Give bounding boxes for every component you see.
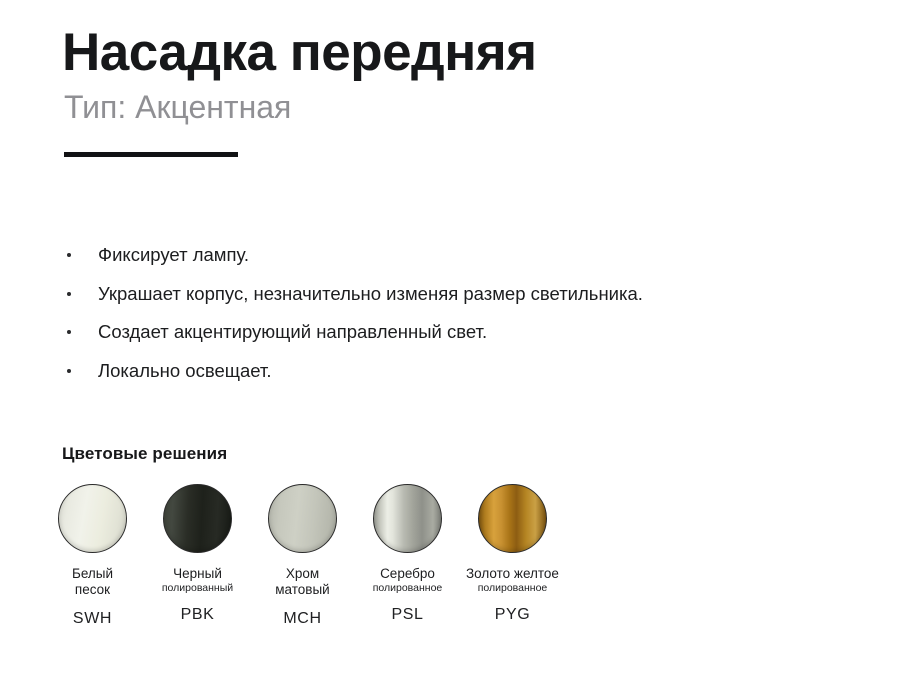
swatch-label: Черный полированный (142, 566, 254, 595)
bullet-icon (67, 369, 71, 373)
swatch-name-sub: песок (37, 582, 149, 598)
swatch-code: PBK (181, 606, 215, 624)
swatch-name-main: Золото желтое (457, 566, 569, 582)
swatch-name-main: Белый (37, 566, 149, 582)
list-item: Создает акцентирующий направленный свет. (62, 323, 852, 342)
swatch-circle-icon[interactable] (163, 484, 232, 553)
bullet-icon (67, 292, 71, 296)
swatch-code: PSL (391, 606, 423, 624)
swatch-name-main: Черный (142, 566, 254, 582)
bullet-icon (67, 330, 71, 334)
feature-list: Фиксирует лампу. Украшает корпус, незнач… (62, 246, 852, 400)
swatch-circle-icon[interactable] (373, 484, 442, 553)
list-item: Локально освещает. (62, 362, 852, 381)
header: Насадка передняя Тип: Акцентная (62, 24, 842, 157)
swatch-circle-icon[interactable] (478, 484, 547, 553)
swatch-name-sub: полированное (457, 582, 569, 595)
list-item: Фиксирует лампу. (62, 246, 852, 265)
feature-text: Создает акцентирующий направленный свет. (98, 321, 487, 342)
color-swatch-pbk[interactable]: Черный полированный PBK (163, 484, 232, 628)
swatch-name-main: Хром (247, 566, 359, 582)
feature-text: Локально освещает. (98, 360, 272, 381)
swatch-code: PYG (495, 606, 531, 624)
color-swatch-pyg[interactable]: Золото желтое полированное PYG (478, 484, 547, 628)
swatch-circle-icon[interactable] (58, 484, 127, 553)
swatch-name-main: Серебро (352, 566, 464, 582)
slide-page: Насадка передняя Тип: Акцентная Фиксируе… (0, 0, 900, 700)
page-title: Насадка передняя (62, 24, 842, 81)
bullet-icon (67, 253, 71, 257)
swatch-label: Белый песок (37, 566, 149, 599)
page-subtitle: Тип: Акцентная (64, 90, 842, 125)
color-swatch-swh[interactable]: Белый песок SWH (58, 484, 127, 628)
colors-section-heading: Цветовые решения (62, 444, 227, 464)
color-swatch-mch[interactable]: Хром матовый MCH (268, 484, 337, 628)
swatch-name-sub: матовый (247, 582, 359, 598)
swatch-circle-icon[interactable] (268, 484, 337, 553)
swatch-name-sub: полированный (142, 582, 254, 595)
swatch-name-sub: полированное (352, 582, 464, 595)
title-divider (64, 152, 238, 157)
feature-text: Украшает корпус, незначительно изменяя р… (98, 283, 643, 304)
swatch-label: Хром матовый (247, 566, 359, 599)
feature-text: Фиксирует лампу. (98, 244, 249, 265)
list-item: Украшает корпус, незначительно изменяя р… (62, 285, 852, 304)
color-swatch-psl[interactable]: Серебро полированное PSL (373, 484, 442, 628)
color-swatch-row: Белый песок SWH Черный полированный PBK … (58, 484, 547, 628)
swatch-label: Серебро полированное (352, 566, 464, 595)
swatch-code: SWH (73, 610, 112, 628)
swatch-label: Золото желтое полированное (457, 566, 569, 595)
swatch-code: MCH (283, 610, 321, 628)
